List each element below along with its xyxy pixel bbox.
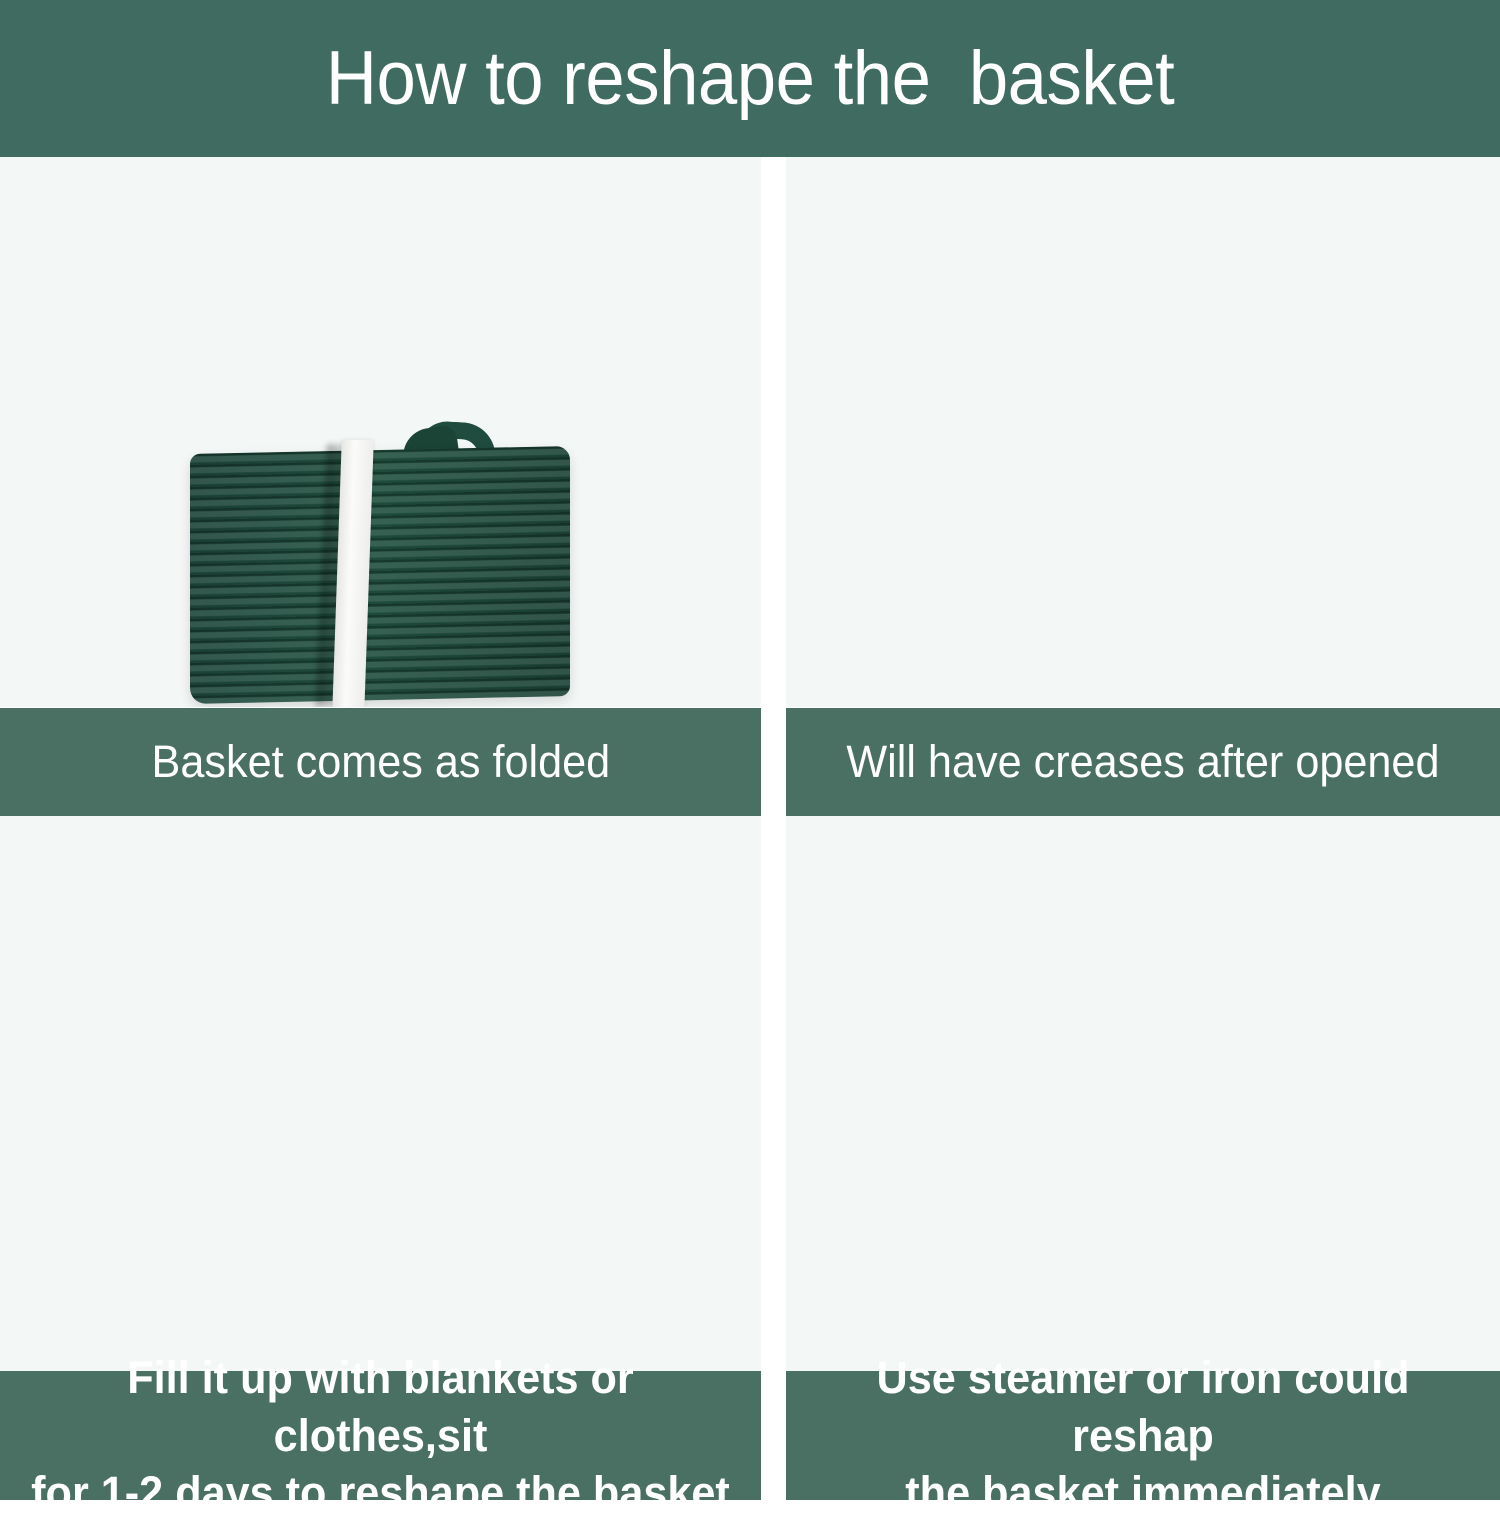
page-title: How to reshape the basket: [326, 41, 1174, 117]
caption-filled: Fill it up with blankets or clothes,sit …: [15, 1349, 746, 1522]
folded-basket-body: [190, 446, 570, 704]
column-divider-bottom: [761, 816, 786, 1372]
column-divider-top: [761, 157, 786, 708]
folded-basket-illustration: [190, 422, 570, 707]
caption-band-steamed: Use steamer or iron could reshap the bas…: [786, 1371, 1500, 1500]
header-band: How to reshape the basket: [0, 0, 1500, 157]
caption-band-creased: Will have creases after opened: [786, 708, 1500, 816]
panel-creased: [786, 157, 1500, 707]
caption-band-filled: Fill it up with blankets or clothes,sit …: [0, 1371, 761, 1500]
caption-folded: Basket comes as folded: [151, 739, 610, 785]
panel-filled: [0, 816, 761, 1371]
panel-steamed: [786, 816, 1500, 1371]
caption-creased: Will have creases after opened: [846, 739, 1439, 785]
caption-band-folded: Basket comes as folded: [0, 708, 761, 816]
panel-grid: [0, 157, 1500, 1500]
infographic-page: How to reshape the basket: [0, 0, 1500, 1500]
rope-texture: [190, 446, 570, 704]
panel-folded: [0, 157, 761, 707]
caption-steamed: Use steamer or iron could reshap the bas…: [800, 1349, 1485, 1522]
